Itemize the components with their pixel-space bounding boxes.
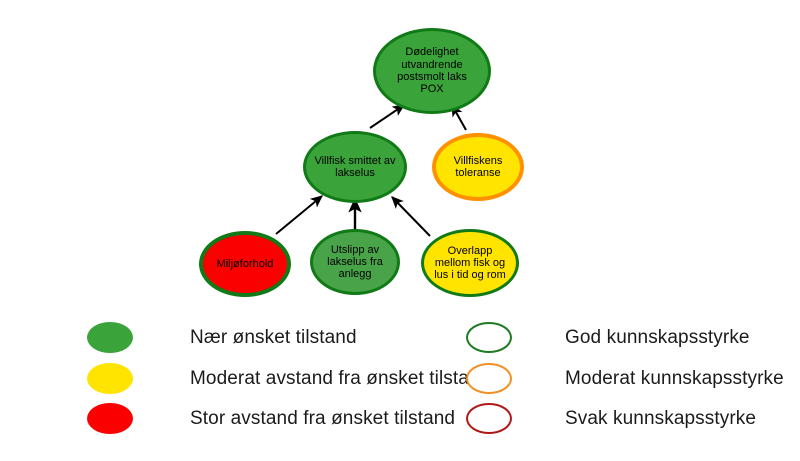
node-overlapp[interactable]: Overlapp mellom fisk og lus i tid og rom	[421, 229, 519, 297]
node-utslipp-lakselus[interactable]: Utslipp av lakselus fra anlegg	[310, 229, 400, 295]
node-villfisk-smittet[interactable]: Villfisk smittet av lakselus	[303, 131, 407, 203]
legend-label-good-knowledge: God kunnskapsstyrke	[565, 327, 750, 349]
legend-label-weak-knowledge: Svak kunnskapsstyrke	[565, 408, 756, 430]
diagram-canvas: Dødelighet utvandrende postsmolt laks PO…	[0, 0, 800, 461]
legend-item-near: Nær ønsket tilstand	[87, 322, 357, 353]
legend-item-moderate: Moderat avstand fra ønsket tilstand	[87, 363, 490, 394]
node-miljoforhold[interactable]: Miljøforhold	[199, 231, 291, 297]
legend-label-moderate: Moderat avstand fra ønsket tilstand	[190, 368, 490, 390]
edge-villfisk-to-pox	[370, 105, 404, 128]
legend-swatch-yellow	[87, 363, 133, 394]
legend-label-large: Stor avstand fra ønsket tilstand	[190, 408, 455, 430]
node-villfisk-smittet-label: Villfisk smittet av lakselus	[314, 155, 395, 180]
legend-swatch-outline-green	[466, 322, 512, 353]
legend-swatch-green	[87, 322, 133, 353]
legend-item-moderate-knowledge: Moderat kunnskapsstyrke	[466, 363, 784, 394]
legend-swatch-outline-orange	[466, 363, 512, 394]
node-pox-label: Dødelighet utvandrende postsmolt laks PO…	[397, 46, 467, 95]
legend-item-good-knowledge: God kunnskapsstyrke	[466, 322, 750, 353]
node-villfiskens-toleranse[interactable]: Villfiskens toleranse	[432, 133, 524, 201]
edge-miljo-to-villfisk	[276, 196, 322, 234]
legend-item-weak-knowledge: Svak kunnskapsstyrke	[466, 403, 756, 434]
node-villfiskens-toleranse-label: Villfiskens toleranse	[454, 155, 503, 180]
legend-item-large: Stor avstand fra ønsket tilstand	[87, 403, 455, 434]
legend-label-near: Nær ønsket tilstand	[190, 327, 357, 349]
legend-swatch-red	[87, 403, 133, 434]
node-overlapp-label: Overlapp mellom fisk og lus i tid og rom	[434, 245, 506, 282]
legend-label-moderate-knowledge: Moderat kunnskapsstyrke	[565, 368, 784, 390]
edge-overlapp-to-villfisk	[392, 197, 430, 236]
legend-swatch-outline-darkred	[466, 403, 512, 434]
node-pox[interactable]: Dødelighet utvandrende postsmolt laks PO…	[373, 28, 491, 114]
node-utslipp-lakselus-label: Utslipp av lakselus fra anlegg	[327, 244, 383, 281]
node-miljoforhold-label: Miljøforhold	[217, 258, 274, 270]
